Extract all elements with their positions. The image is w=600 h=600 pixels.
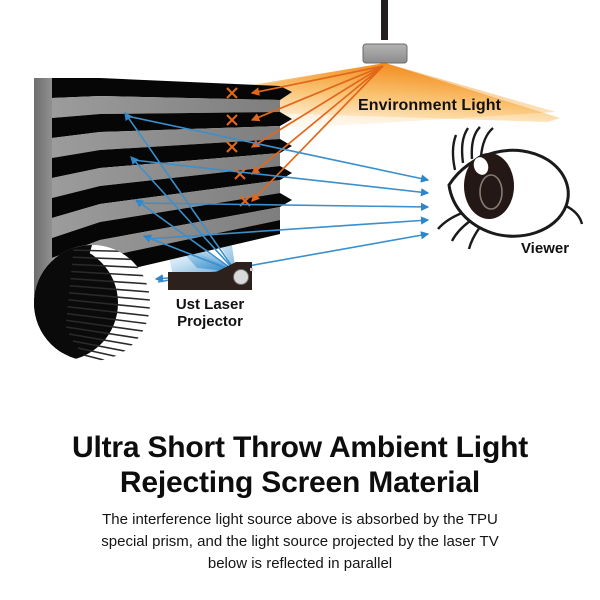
ust-screen-diagram — [0, 0, 600, 420]
projector-label-line1: Ust Laser — [176, 296, 244, 313]
caption-block: Ultra Short Throw Ambient Light Rejectin… — [0, 430, 600, 574]
subtitle-line-3: below is reflected in parallel — [58, 553, 542, 575]
environment-light-label: Environment Light — [358, 97, 501, 115]
prism-magnifier — [2, 245, 150, 372]
title-line-1: Ultra Short Throw Ambient Light — [14, 430, 586, 465]
projector-label: Ust Laser Projector — [150, 296, 270, 331]
title-line-2: Rejecting Screen Material — [14, 465, 586, 500]
subtitle-line-2: special prism, and the light source proj… — [58, 531, 542, 553]
projector-label-line2: Projector — [177, 313, 243, 330]
subtitle-line-1: The interference light source above is a… — [58, 509, 542, 531]
diagram-page: Environment Light Viewer Ust Laser Proje… — [0, 0, 600, 600]
page-subtitle: The interference light source above is a… — [58, 509, 542, 574]
ceiling-lamp — [363, 0, 407, 63]
viewer-label: Viewer — [498, 240, 592, 257]
page-title: Ultra Short Throw Ambient Light Rejectin… — [14, 430, 586, 500]
viewer-eye — [438, 127, 582, 249]
